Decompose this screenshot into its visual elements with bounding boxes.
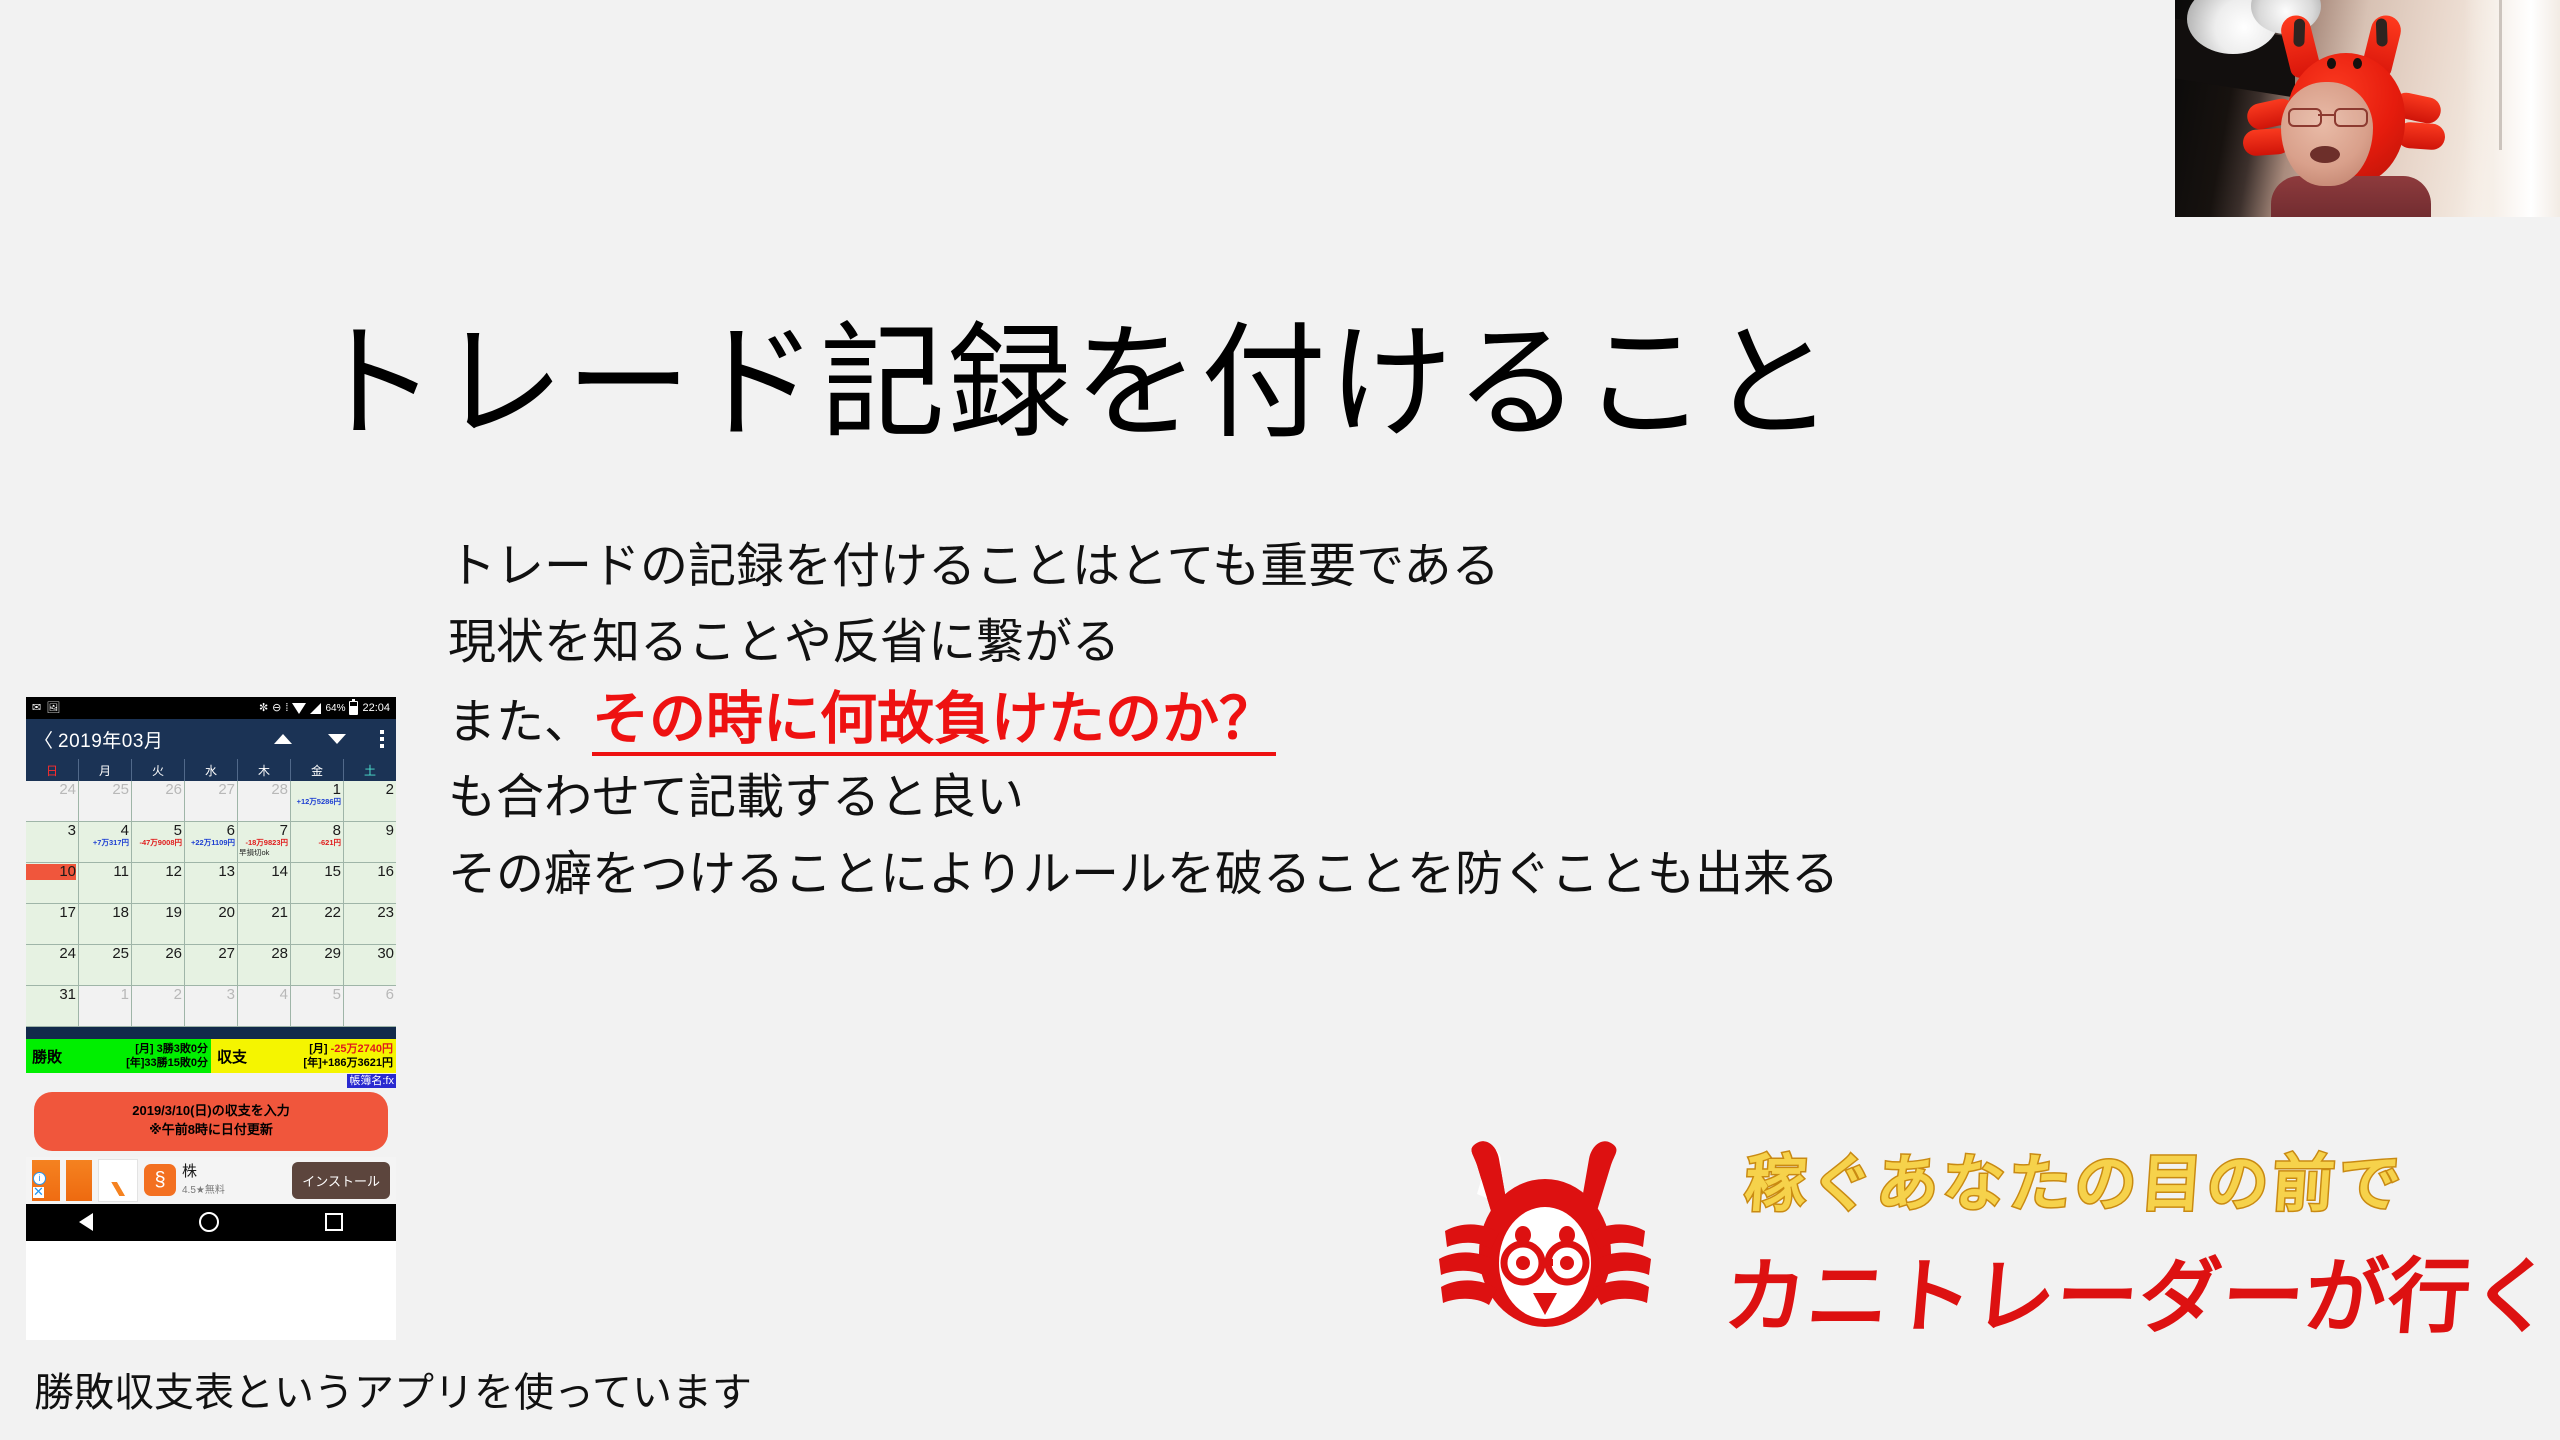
calendar-day-cell[interactable]: 8-621円: [291, 822, 344, 862]
calendar-day-number: 26: [132, 946, 182, 962]
calendar-day-number: 27: [185, 946, 235, 962]
win-loss-section: 勝敗 [月] 3勝3敗0分 [年]33勝15敗0分: [26, 1039, 211, 1073]
balance-label: 収支: [211, 1039, 253, 1073]
person-mouth: [2310, 146, 2340, 163]
win-loss-year: [年]33勝15敗0分: [68, 1056, 208, 1070]
balance-month-value: -25万2740円: [331, 1043, 393, 1055]
phone-app-bar: 〈 2019年03月: [26, 719, 396, 759]
calendar-day-number: 31: [26, 987, 76, 1003]
slide-canvas: トレード記録を付けること トレードの記録を付けることはとても重要である 現状を知…: [0, 0, 2560, 1440]
calendar-week-row: 10111213141516: [26, 863, 396, 904]
mail-icon: ✉: [32, 703, 41, 714]
calendar-day-number: 20: [185, 905, 235, 921]
wifi-icon: [292, 703, 306, 714]
balance-section: 収支 [月] -25万2740円 [年]+186万3621円: [211, 1039, 396, 1073]
weekday-sat: 土: [344, 759, 396, 781]
calendar-day-cell[interactable]: 18: [79, 904, 132, 944]
calendar-day-cell[interactable]: 1+12万5286円: [291, 781, 344, 821]
calendar-day-number: 28: [238, 782, 288, 798]
calendar-day-number: 9: [344, 823, 394, 839]
calendar-day-cell[interactable]: 27: [185, 945, 238, 985]
crab-hat-eye: [2353, 58, 2362, 69]
calendar-day-number: 5: [132, 823, 182, 839]
weekday-header-row: 日 月 火 水 木 金 土: [26, 759, 396, 781]
body-line-4: も合わせて記載すると良い: [448, 766, 2208, 830]
signal-icon: [310, 703, 321, 714]
calendar-week-row: 17181920212223: [26, 904, 396, 945]
balance-month-prefix: [月]: [309, 1043, 327, 1055]
calendar-week-row: 24252627282930: [26, 945, 396, 986]
emphasis-prefix: また、: [448, 691, 592, 755]
calendar-day-cell[interactable]: 26: [132, 945, 185, 985]
calendar-day-amount: +12万5286円: [291, 798, 341, 807]
calendar-day-amount: -18万9823円: [238, 839, 288, 848]
ad-screenshot-2: [66, 1160, 92, 1201]
webcam-curtain: [2464, 0, 2560, 217]
do-not-disturb-icon: ⊖: [272, 703, 281, 714]
calendar-day-cell[interactable]: 16: [344, 863, 396, 903]
ad-app-icon: §: [144, 1164, 176, 1196]
calendar-day-number: 6: [344, 987, 394, 1003]
ad-app-rating: 4.5★無料: [182, 1181, 225, 1196]
calendar-day-cell[interactable]: 5-47万9008円: [132, 822, 185, 862]
calendar-day-cell[interactable]: 13: [185, 863, 238, 903]
ledger-name-badge: 帳簿名:fx: [347, 1074, 396, 1088]
calendar-day-number: 8: [291, 823, 341, 839]
calendar-day-cell[interactable]: 17: [26, 904, 79, 944]
calendar-day-number: 5: [291, 987, 341, 1003]
calendar-day-number: 29: [291, 946, 341, 962]
calendar-day-number: 12: [132, 864, 182, 880]
ad-info-icon[interactable]: i: [33, 1172, 46, 1185]
emphasis-highlight: その時に何故負けたのか？: [592, 688, 1276, 757]
calendar-day-amount: +22万1109円: [185, 839, 235, 848]
calendar-week-row: 34+7万317円5-47万9008円6+22万1109円7-18万9823円早…: [26, 822, 396, 863]
calendar-day-cell[interactable]: 12: [132, 863, 185, 903]
calendar-day-cell[interactable]: 28: [238, 945, 291, 985]
calendar-day-number: 2: [132, 987, 182, 1003]
battery-icon: [349, 701, 358, 715]
phone-status-bar: ✉ 🖼 ✼ ⊖ ⁞ 64% 22:04: [26, 697, 396, 719]
calendar-bottom-divider: [26, 1027, 396, 1039]
body-line-5: その癖をつけることによりルールを破ることを防ぐことも出来る: [448, 843, 2208, 907]
body-text-block: トレードの記録を付けることはとても重要である 現状を知ることや反省に繋がる また…: [448, 535, 2208, 919]
calendar-day-number: 6: [185, 823, 235, 839]
ad-app-name: 株: [182, 1164, 225, 1181]
battery-percent: 64%: [325, 703, 345, 714]
calendar-day-number: 24: [26, 782, 76, 798]
calendar-day-cell[interactable]: 2: [344, 781, 396, 821]
back-icon[interactable]: [79, 1213, 93, 1231]
weekday-fri: 金: [291, 759, 344, 781]
calendar-day-cell[interactable]: 31: [26, 986, 79, 1026]
calendar-day-number: 30: [344, 946, 394, 962]
balance-year: [年]+186万3621円: [253, 1056, 393, 1070]
back-chevron-icon[interactable]: 〈: [34, 726, 53, 753]
calendar-day-cell[interactable]: 1: [79, 986, 132, 1026]
home-icon[interactable]: [199, 1212, 219, 1232]
entry-button-wrap: 2019/3/10(日)の収支を入力 ※午前8時に日付更新: [26, 1088, 396, 1157]
calendar-day-number: 15: [291, 864, 341, 880]
body-line-2: 現状を知ることや反省に繋がる: [448, 611, 2208, 675]
win-loss-month: [月] 3勝3敗0分: [68, 1042, 208, 1056]
calendar-day-amount: -621円: [291, 839, 341, 848]
calendar-day-number: 4: [238, 987, 288, 1003]
calendar-day-cell[interactable]: 24: [26, 945, 79, 985]
logo-tagline: 稼ぐあなたの目の前で: [1742, 1133, 2408, 1223]
glasses-icon: [2288, 108, 2366, 124]
calendar-day-cell[interactable]: 21: [238, 904, 291, 944]
calendar-day-number: 14: [238, 864, 288, 880]
android-nav-bar: [26, 1204, 396, 1241]
phone-screenshot: ✉ 🖼 ✼ ⊖ ⁞ 64% 22:04 〈 2019年03月 日 月: [26, 697, 396, 1340]
calendar-day-cell[interactable]: 28: [238, 781, 291, 821]
calendar-day-number: 27: [185, 782, 235, 798]
person-face: [2281, 82, 2373, 186]
calendar-day-number: 11: [79, 864, 129, 880]
calendar-day-number: 1: [79, 987, 129, 1003]
weekday-sun: 日: [26, 759, 79, 781]
calendar-day-cell[interactable]: 25: [79, 945, 132, 985]
calendar-day-number: 21: [238, 905, 288, 921]
balance-month: [月] -25万2740円: [253, 1042, 393, 1056]
prev-month-up-arrow-icon[interactable]: [274, 734, 292, 744]
calendar-day-number: 18: [79, 905, 129, 921]
calendar-day-cell[interactable]: 6+22万1109円: [185, 822, 238, 862]
sync-icon: ⁞: [285, 703, 288, 714]
calendar-day-cell[interactable]: 5: [291, 986, 344, 1026]
calendar-day-number: 17: [26, 905, 76, 921]
app-caption: 勝敗収支表というアプリを使っています: [34, 1360, 752, 1418]
weekday-wed: 水: [185, 759, 238, 781]
calendar-day-cell[interactable]: 9: [344, 822, 396, 862]
calendar-month-title: 2019年03月: [58, 726, 163, 753]
crab-mascot-icon: [1415, 1135, 1715, 1340]
calendar-day-cell[interactable]: 23: [344, 904, 396, 944]
summary-bar: 勝敗 [月] 3勝3敗0分 [年]33勝15敗0分 収支 [月] -25万274…: [26, 1039, 396, 1073]
calendar-week-row: 31123456: [26, 986, 396, 1027]
calendar-day-cell[interactable]: 7-18万9823円早損切ok: [238, 822, 291, 862]
calendar-day-number: 16: [344, 864, 394, 880]
calendar-day-number: 26: [132, 782, 182, 798]
calendar-day-cell[interactable]: 25: [79, 781, 132, 821]
calendar-day-number: 1: [291, 782, 341, 798]
calendar-day-cell[interactable]: 3: [185, 986, 238, 1026]
ad-banner[interactable]: i ✕ § 株 4.5★無料 インストール: [26, 1157, 396, 1204]
person-shirt: [2271, 176, 2431, 217]
calendar-day-number: 28: [238, 946, 288, 962]
entry-button-line2: ※午前8時に日付更新: [34, 1121, 388, 1140]
calendar-week-row: 24252627281+12万5286円2: [26, 781, 396, 822]
overflow-menu-icon[interactable]: [380, 730, 384, 748]
calendar-day-cell[interactable]: 29: [291, 945, 344, 985]
calendar-day-cell[interactable]: 10: [26, 863, 79, 903]
weekday-thu: 木: [238, 759, 291, 781]
calendar-day-number: 25: [79, 946, 129, 962]
crab-hat-eye: [2327, 58, 2336, 69]
calendar-day-number: 24: [26, 946, 76, 962]
calendar-day-cell[interactable]: 3: [26, 822, 79, 862]
calendar-day-cell[interactable]: 15: [291, 863, 344, 903]
ledger-row: 帳簿名:fx: [26, 1073, 396, 1088]
status-time: 22:04: [362, 702, 390, 714]
calendar-day-cell[interactable]: 26: [132, 781, 185, 821]
entry-button-line1: 2019/3/10(日)の収支を入力: [34, 1102, 388, 1121]
calendar-day-number: 22: [291, 905, 341, 921]
weekday-mon: 月: [79, 759, 132, 781]
body-line-1: トレードの記録を付けることはとても重要である: [448, 535, 2208, 599]
calendar-day-cell[interactable]: 4: [238, 986, 291, 1026]
calendar-day-cell[interactable]: 30: [344, 945, 396, 985]
calendar-day-cell[interactable]: 27: [185, 781, 238, 821]
calendar-day-amount: +7万317円: [79, 839, 129, 848]
next-month-down-arrow-icon[interactable]: [328, 734, 346, 744]
calendar-day-cell[interactable]: 4+7万317円: [79, 822, 132, 862]
win-loss-label: 勝敗: [26, 1039, 68, 1073]
calendar-day-cell[interactable]: 19: [132, 904, 185, 944]
body-line-emphasis: また、 その時に何故負けたのか？: [448, 688, 2208, 757]
calendar-day-cell[interactable]: 11: [79, 863, 132, 903]
calendar-day-number: 25: [79, 782, 129, 798]
calendar-day-number: 4: [79, 823, 129, 839]
calendar-day-number: 2: [344, 782, 394, 798]
input-balance-button[interactable]: 2019/3/10(日)の収支を入力 ※午前8時に日付更新: [34, 1092, 388, 1151]
image-icon: 🖼: [46, 703, 60, 714]
recents-icon[interactable]: [325, 1213, 343, 1231]
calendar-day-number: 7: [238, 823, 288, 839]
ad-close-icon[interactable]: ✕: [33, 1187, 44, 1198]
webcam-overlay: [2175, 0, 2560, 217]
calendar-day-amount: -47万9008円: [132, 839, 182, 848]
logo-name: カニトレーダーが行く！: [1720, 1230, 2560, 1349]
calendar-grid: 24252627281+12万5286円234+7万317円5-47万9008円…: [26, 781, 396, 1027]
bluetooth-icon: ✼: [259, 703, 268, 714]
calendar-day-number: 13: [185, 864, 235, 880]
calendar-day-note: 早損切ok: [238, 847, 288, 858]
calendar-day-cell[interactable]: 24: [26, 781, 79, 821]
ad-install-button[interactable]: インストール: [292, 1162, 390, 1199]
calendar-day-cell[interactable]: 6: [344, 986, 396, 1026]
calendar-day-cell[interactable]: 20: [185, 904, 238, 944]
weekday-tue: 火: [132, 759, 185, 781]
calendar-day-number: 3: [185, 987, 235, 1003]
calendar-day-cell[interactable]: 2: [132, 986, 185, 1026]
calendar-day-number: 19: [132, 905, 182, 921]
calendar-day-cell[interactable]: 22: [291, 904, 344, 944]
channel-logo: 稼ぐあなたの目の前で カニトレーダーが行く！: [1395, 1125, 2545, 1415]
ad-screenshot-1: i ✕: [32, 1160, 60, 1201]
ad-screenshot-3: [98, 1159, 138, 1202]
calendar-day-cell[interactable]: 14: [238, 863, 291, 903]
page-title: トレード記録を付けること: [312, 318, 1836, 449]
calendar-day-number: 3: [26, 823, 76, 839]
calendar-day-number: 23: [344, 905, 394, 921]
calendar-day-number: 10: [26, 864, 76, 880]
